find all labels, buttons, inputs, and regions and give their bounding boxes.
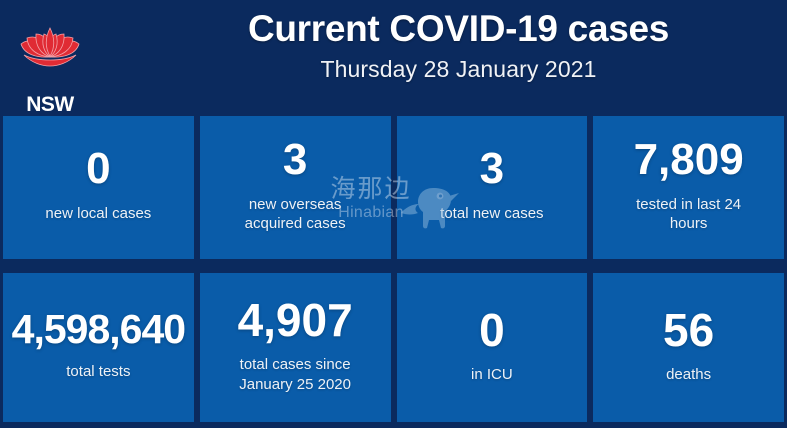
stat-label-line1: tested in last 24 <box>636 195 741 214</box>
stat-label: new overseas acquired cases <box>245 195 346 233</box>
statistics-grid: 0 new local cases 3 new overseas acquire… <box>3 116 784 422</box>
stat-card-total-new-cases: 3 total new cases <box>397 116 588 259</box>
stat-label: deaths <box>666 365 711 384</box>
stat-value: 4,598,640 <box>12 309 185 350</box>
nsw-government-logo: NSW GOVERNMENT <box>14 8 86 98</box>
stat-card-total-tests: 4,598,640 total tests <box>3 273 194 422</box>
stat-value: 7,809 <box>634 138 744 182</box>
stat-label-line2: acquired cases <box>245 214 346 233</box>
stat-value: 4,907 <box>238 297 353 343</box>
dashboard-header: NSW GOVERNMENT Current COVID-19 cases Th… <box>0 0 787 110</box>
stat-value: 0 <box>86 147 110 191</box>
stat-label: new local cases <box>45 204 151 223</box>
stat-label: total cases since January 25 2020 <box>239 355 351 393</box>
stat-card-new-local-cases: 0 new local cases <box>3 116 194 259</box>
page-title: Current COVID-19 cases <box>130 6 787 52</box>
waratah-icon <box>14 8 86 98</box>
stat-label-line1: total tests <box>66 362 130 381</box>
title-block: Current COVID-19 cases Thursday 28 Janua… <box>110 6 787 85</box>
stat-card-tested-last-24-hours: 7,809 tested in last 24 hours <box>593 116 784 259</box>
stat-value: 3 <box>480 147 504 191</box>
stat-label: tested in last 24 hours <box>636 195 741 233</box>
stat-label: in ICU <box>471 365 513 384</box>
stat-label-line1: total cases since <box>239 355 351 374</box>
covid-dashboard: NSW GOVERNMENT Current COVID-19 cases Th… <box>0 0 787 428</box>
stat-label-line2: hours <box>636 214 741 233</box>
stat-card-total-cases-since: 4,907 total cases since January 25 2020 <box>200 273 391 422</box>
stat-label: total tests <box>66 362 130 381</box>
stat-value: 3 <box>283 138 307 182</box>
stat-card-in-icu: 0 in ICU <box>397 273 588 422</box>
stat-card-deaths: 56 deaths <box>593 273 784 422</box>
stat-label: total new cases <box>440 204 543 223</box>
stat-label-line1: total new cases <box>440 204 543 223</box>
page-subtitle: Thursday 28 January 2021 <box>130 55 787 85</box>
logo-wordmark-text: NSW <box>26 93 74 116</box>
stat-label-line1: new local cases <box>45 204 151 223</box>
stat-value: 56 <box>663 307 714 353</box>
stat-card-new-overseas-acquired-cases: 3 new overseas acquired cases <box>200 116 391 259</box>
stat-label-line1: deaths <box>666 365 711 384</box>
stat-label-line2: January 25 2020 <box>239 375 351 394</box>
stat-label-line1: new overseas <box>245 195 346 214</box>
stat-label-line1: in ICU <box>471 365 513 384</box>
stat-value: 0 <box>479 307 505 353</box>
